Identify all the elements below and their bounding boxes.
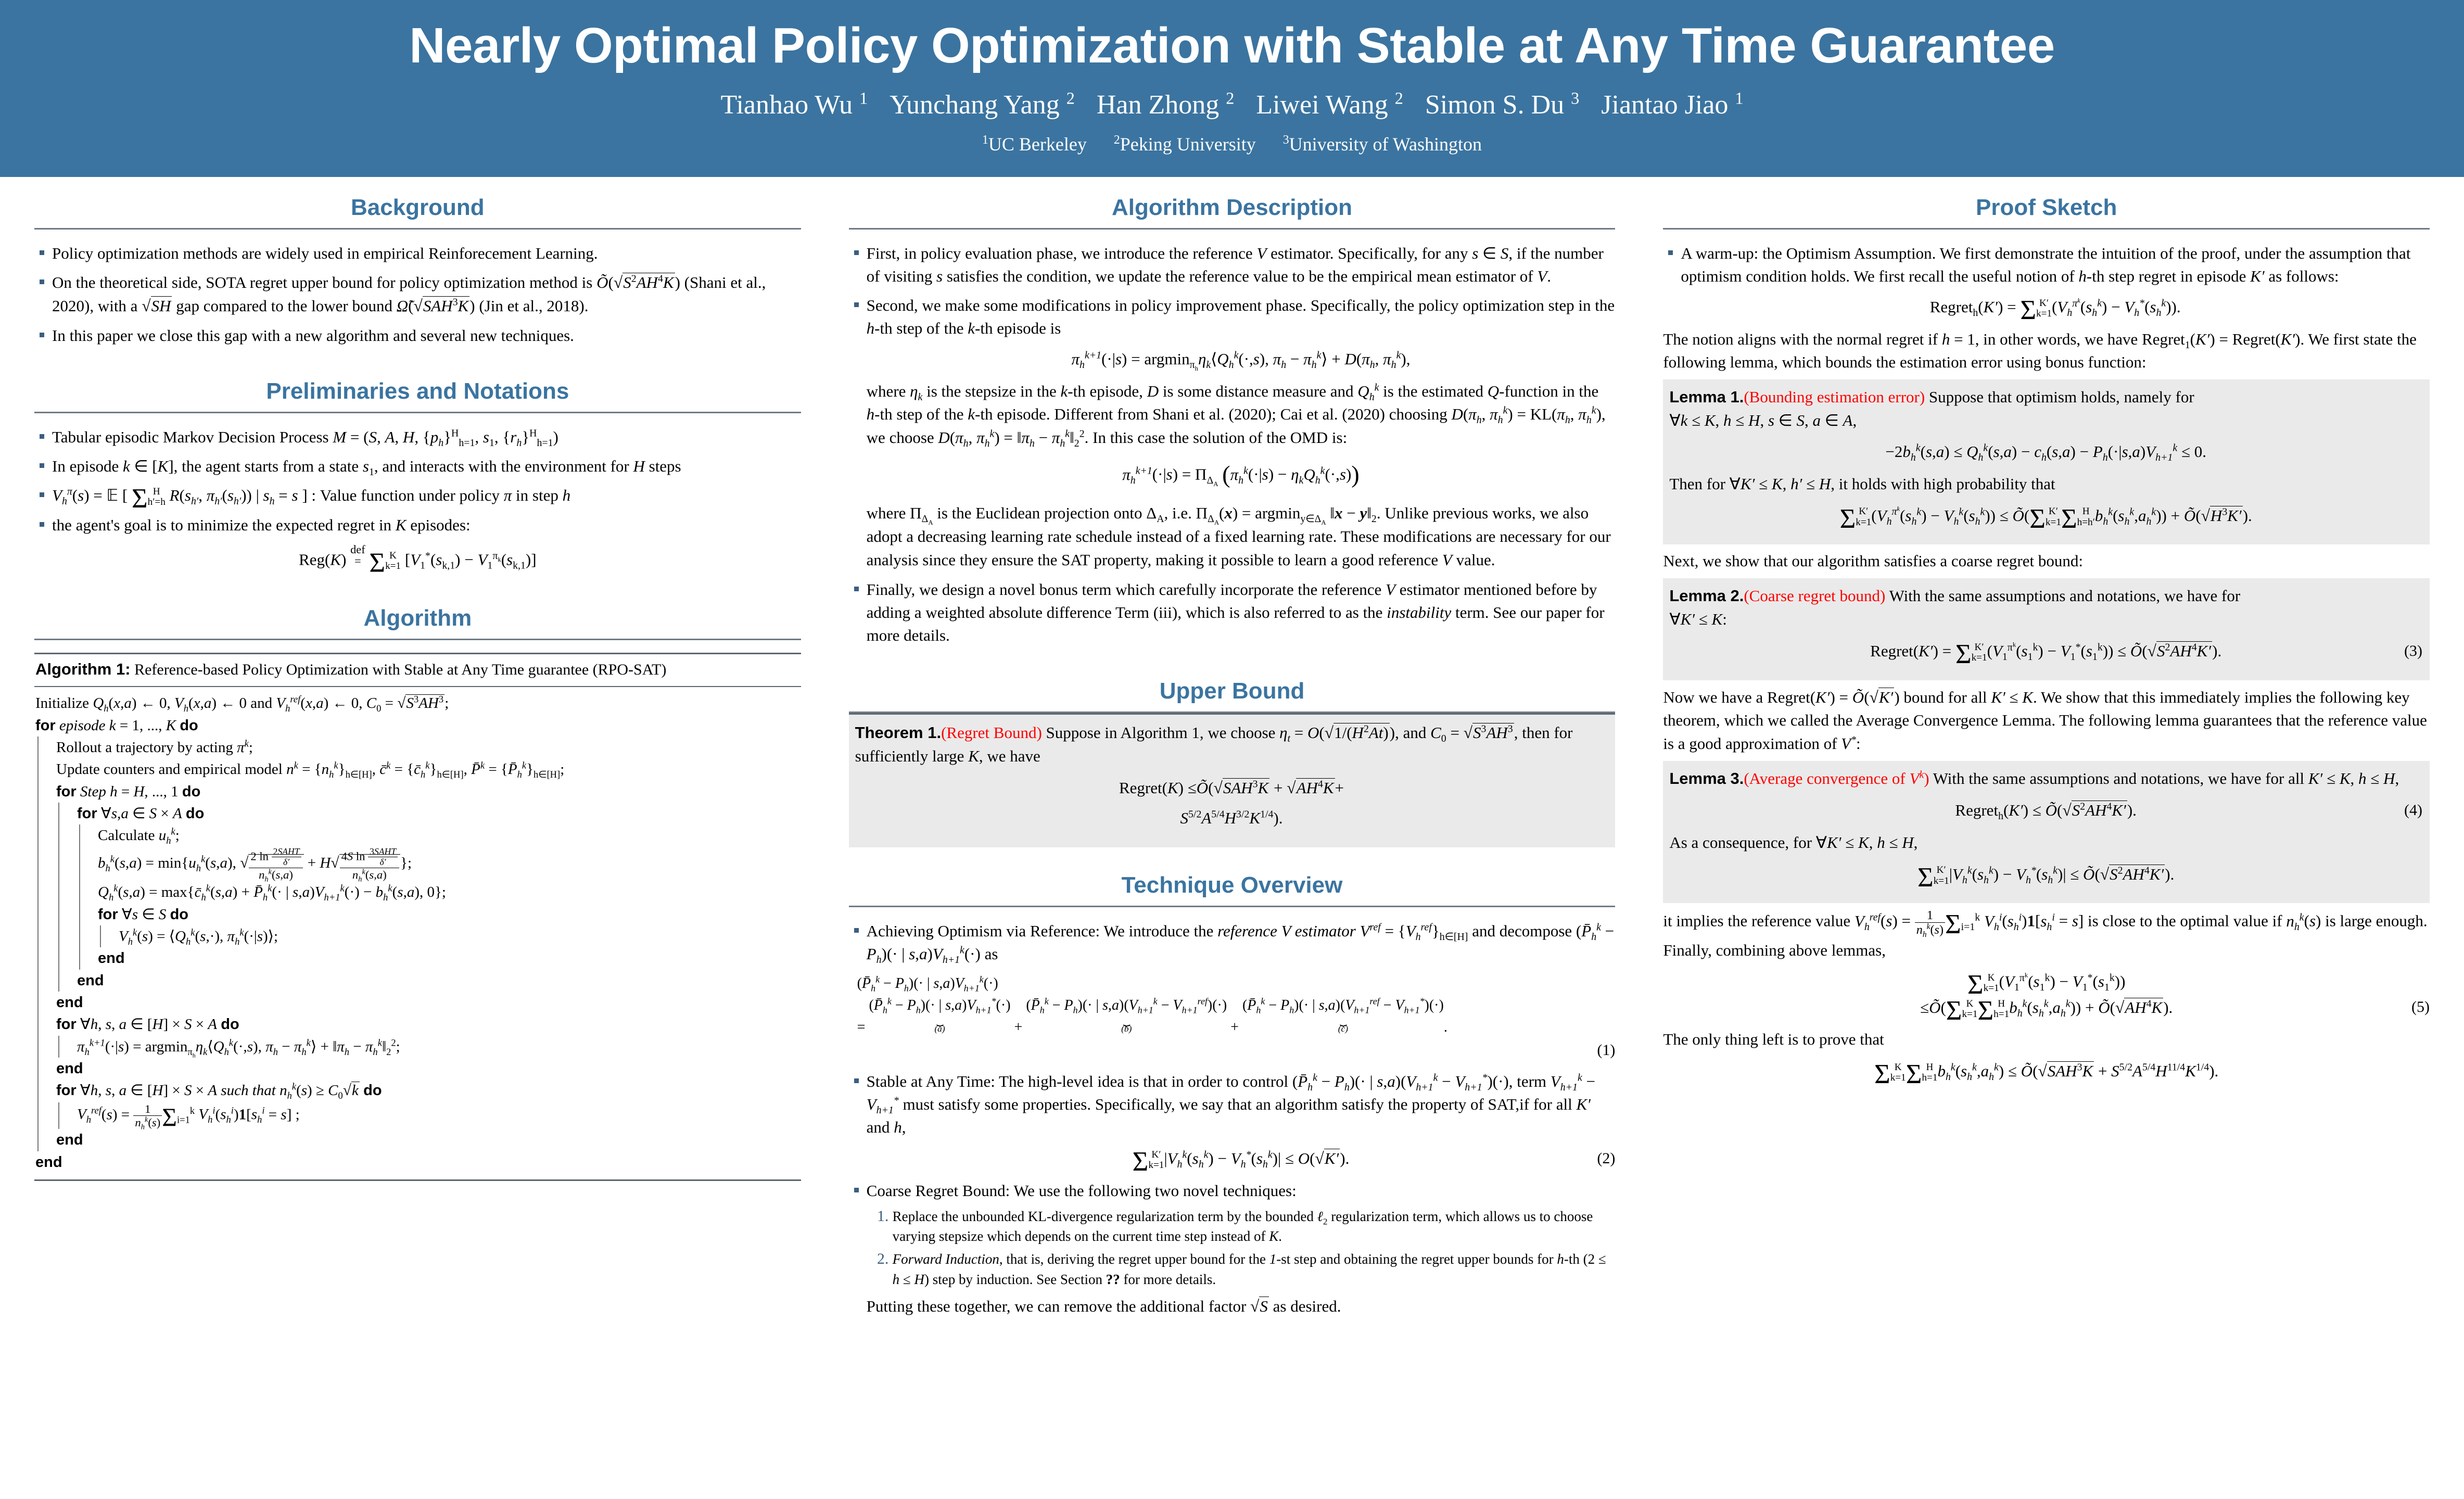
- section-divider: [849, 906, 1616, 907]
- lemma-3-equation-2: ΣK′k=1|Vhk(shk) − Vh*(shk)| ≤ Õ(√S2AH4K′…: [1669, 862, 2422, 887]
- lemma-2-equation: Regret(K′) = ΣK′k=1(V1πk(s1k) − V1*(s1k)…: [1669, 639, 2422, 664]
- section-title-upper-bound: Upper Bound: [849, 678, 1616, 704]
- affiliation-entry: 2Peking University: [1114, 133, 1256, 155]
- algorithm-label: Algorithm 1:: [35, 660, 131, 678]
- section-title-algorithm-description: Algorithm Description: [849, 195, 1616, 221]
- section-title-technique-overview: Technique Overview: [849, 872, 1616, 898]
- list-item: Finally, we design a novel bonus term wh…: [849, 578, 1616, 647]
- algo-line: end: [56, 1129, 800, 1151]
- proof-paragraph-2: Next, we show that our algorithm satisfi…: [1663, 550, 2430, 573]
- algo-line: end: [77, 970, 800, 992]
- column-middle: Algorithm Description First, in policy e…: [849, 195, 1616, 1325]
- proof-paragraph-4: it implies the reference value Vhref(s) …: [1663, 908, 2430, 937]
- list-item: In episode k ∈ [K], the agent starts fro…: [34, 455, 801, 478]
- equation-number-4: (4): [2404, 798, 2422, 822]
- algorithm-description-bullets: First, in policy evaluation phase, we in…: [849, 242, 1616, 647]
- algo-line: end: [56, 992, 800, 1013]
- list-item: Forward Induction, that is, deriving the…: [893, 1248, 1616, 1289]
- section-divider: [34, 228, 801, 230]
- final-equation-line-1: ΣKk=1(V1πk(s1k) − V1*(s1k)): [1663, 970, 2430, 994]
- final-equation-line-2: ≤Õ(ΣKk=1ΣHh=1bhk(shk,ahk)) + Õ(√AH4K).(5…: [1663, 995, 2430, 1020]
- algo-line: Initialize Qh(x,a) ← 0, Vh(x,a) ← 0 and …: [35, 692, 800, 715]
- algo-line: for ∀s ∈ S do: [98, 904, 800, 925]
- algo-line: Vhref(s) = 1nhk(s)Σi=1k Vhi(shi)1[shi = …: [77, 1102, 800, 1129]
- affiliation-entry: 3University of Washington: [1283, 133, 1482, 155]
- technique-overview-bullets: Achieving Optimism via Reference: We int…: [849, 920, 1616, 1318]
- lemma-3-tag: (Average convergence of Vk): [1744, 769, 1929, 787]
- bonus-sum-equation: ΣKk=1ΣHh=1bhk(shk,ahk) ≤ Õ(√SAH3K + S5/2…: [1663, 1059, 2430, 1084]
- list-item: Policy optimization methods are widely u…: [34, 242, 801, 265]
- algo-line: bhk(s,a) = min{uhk(s,a), √2 ln 2SAHTδ′nh…: [98, 847, 800, 882]
- section-title-preliminaries: Preliminaries and Notations: [34, 378, 801, 404]
- algo-line: Update counters and empirical model nk =…: [56, 758, 800, 780]
- section-divider: [849, 228, 1616, 230]
- brace-label-c: (c): [1242, 1022, 1444, 1036]
- theorem-tag: (Regret Bound): [941, 723, 1042, 742]
- algo-line: for ∀s,a ∈ S × A do: [77, 803, 800, 824]
- list-item: Achieving Optimism via Reference: We int…: [849, 920, 1616, 1062]
- algo-line: Vhk(s) = ⟨Qhk(s,·), πhk(·|s)⟩;: [119, 925, 800, 947]
- algo-line: for ∀h, s, a ∈ [H] × S × A such that nhk…: [56, 1079, 800, 1102]
- equation-number-3: (3): [2404, 639, 2422, 663]
- proof-paragraph-5: Finally, combining above lemmas,: [1663, 939, 2430, 962]
- list-item: Vhπ(s) = 𝔼 [ ΣHh′=h R(sh′, πh′(sh′)) | s…: [34, 484, 801, 507]
- affiliation-list: 1UC Berkeley2Peking University3Universit…: [0, 133, 2464, 155]
- algo-line: end: [56, 1058, 800, 1079]
- lemma-3-consequence: As a consequence, for ∀K′ ≤ K, h ≤ H,: [1669, 833, 1917, 852]
- algorithm-box: Algorithm 1: Reference-based Policy Opti…: [34, 653, 801, 1181]
- regret-definition-equation: Reg(K) def= ΣKk=1 [V1*(sk,1) − V1πk(sk,1…: [34, 544, 801, 572]
- algo-line: for ∀h, s, a ∈ [H] × S × A do: [56, 1013, 800, 1035]
- step-regret-equation: Regreth(K′) = ΣK′k=1(Vhπk(shk) − Vh*(shk…: [1681, 295, 2430, 320]
- algo-line: for episode k = 1, ..., K do: [35, 715, 800, 736]
- algo-line: Qhk(s,a) = max{c̄hk(s,a) + P̄hk(· | s,a)…: [98, 881, 800, 903]
- author-entry: Simon S. Du 3: [1425, 90, 1579, 120]
- list-item: the agent's goal is to minimize the expe…: [34, 514, 801, 537]
- section-title-proof-sketch: Proof Sketch: [1663, 195, 2430, 221]
- description-paragraph-2: where ΠΔA is the Euclidean projection on…: [867, 502, 1616, 572]
- theorem-label: Theorem 1.: [855, 723, 941, 742]
- omd-solution-equation: πhk+1(·|s) = ΠΔA (πhk(·|s) − ηkQhk(·,s)): [867, 457, 1616, 493]
- lemma-1-label: Lemma 1.: [1669, 388, 1744, 406]
- technique-numbered-list: Replace the unbounded KL-divergence regu…: [867, 1205, 1616, 1289]
- algorithm-pseudocode: Initialize Qh(x,a) ← 0, Vh(x,a) ← 0 and …: [34, 687, 801, 1179]
- equation-number-5: (5): [2411, 995, 2430, 1019]
- section-divider: [1663, 228, 2430, 230]
- algo-line: πhk+1(·|s) = argminπhηk⟨Qhk(·,s), πh − π…: [77, 1036, 800, 1058]
- poster-columns: Background Policy optimization methods a…: [0, 177, 2464, 1325]
- theorem-equation-line-1: Regret(K) ≤Õ(√SAH3K + √AH4K+: [855, 776, 1608, 801]
- proof-paragraph-6: The only thing left is to prove that: [1663, 1028, 2430, 1051]
- algo-line: Calculate uhk;: [98, 824, 800, 846]
- lemma-3-box: Lemma 3.(Average convergence of Vk) With…: [1663, 761, 2430, 903]
- author-list: Tianhao Wu 1Yunchang Yang 2Han Zhong 2Li…: [0, 90, 2464, 120]
- algo-line: Rollout a trajectory by acting πk;: [56, 736, 800, 758]
- list-item: Coarse Regret Bound: We use the followin…: [849, 1179, 1616, 1318]
- algo-line: end: [98, 947, 800, 969]
- section-title-background: Background: [34, 195, 801, 221]
- lemma-3-label: Lemma 3.: [1669, 769, 1744, 787]
- lemma-1-box: Lemma 1.(Bounding estimation error) Supp…: [1663, 379, 2430, 544]
- technique-closing: Putting these together, we can remove th…: [867, 1294, 1616, 1318]
- lemma-3-equation-1: Regreth(K′) ≤ Õ(√S2AH4K′).(4): [1669, 798, 2422, 823]
- section-divider: [34, 412, 801, 413]
- list-item: In this paper we close this gap with a n…: [34, 324, 801, 347]
- lemma-1-equation-2: ΣK′k=1(Vhπk(shk) − Vhk(shk)) ≤ Õ(ΣK′k=1Σ…: [1669, 503, 2422, 528]
- policy-optimization-equation: πhk+1(·|s) = argminπhηk⟨Qhk(·,s), πh − π…: [867, 347, 1616, 372]
- proof-paragraph-1: The notion aligns with the normal regret…: [1663, 328, 2430, 375]
- author-entry: Yunchang Yang 2: [890, 90, 1075, 120]
- list-item: Replace the unbounded KL-divergence regu…: [893, 1205, 1616, 1247]
- page-title: Nearly Optimal Policy Optimization with …: [0, 20, 2464, 72]
- equation-number-1: (1): [857, 1038, 1616, 1062]
- algo-line: for Step h = H, ..., 1 do: [56, 781, 800, 803]
- author-entry: Jiantao Jiao 1: [1601, 90, 1743, 120]
- list-item: A warm-up: the Optimism Assumption. We f…: [1663, 242, 2430, 320]
- proof-paragraph-3: Now we have a Regret(K′) = Õ(√K′) bound …: [1663, 685, 2430, 756]
- equation-number-2: (2): [1597, 1147, 1615, 1170]
- column-right: Proof Sketch A warm-up: the Optimism Ass…: [1663, 195, 2430, 1092]
- column-left: Background Policy optimization methods a…: [34, 195, 801, 1181]
- author-entry: Han Zhong 2: [1097, 90, 1235, 120]
- list-item: First, in policy evaluation phase, we in…: [849, 242, 1616, 288]
- author-entry: Liwei Wang 2: [1256, 90, 1403, 120]
- preliminaries-bullets: Tabular episodic Markov Decision Process…: [34, 426, 801, 537]
- background-bullets: Policy optimization methods are widely u…: [34, 242, 801, 347]
- decomposition-equation: (P̄hk − Ph)(· | s,a)Vh+1k(·) = (P̄hk − P…: [857, 973, 1616, 1062]
- author-entry: Tianhao Wu 1: [721, 90, 868, 120]
- algo-line: end: [35, 1151, 800, 1173]
- algorithm-caption: Algorithm 1: Reference-based Policy Opti…: [34, 654, 801, 687]
- proof-sketch-bullets: A warm-up: the Optimism Assumption. We f…: [1663, 242, 2430, 320]
- theorem-equation-line-2: S5/2A5/4H3/2K1/4).: [855, 806, 1608, 831]
- description-paragraph-1: where ηk is the stepsize in the k-th epi…: [867, 380, 1616, 450]
- affiliation-entry: 1UC Berkeley: [982, 133, 1087, 155]
- poster-header-banner: Nearly Optimal Policy Optimization with …: [0, 0, 2464, 177]
- lemma-1-equation-1: −2bhk(s,a) ≤ Qhk(s,a) − ch(s,a) − Ph(·|s…: [1669, 440, 2422, 464]
- brace-label-b: (b): [1026, 1022, 1227, 1036]
- brace-label-a: (a): [869, 1022, 1010, 1036]
- section-title-algorithm: Algorithm: [34, 605, 801, 631]
- list-item: Tabular episodic Markov Decision Process…: [34, 426, 801, 449]
- list-item: Second, we make some modifications in po…: [849, 294, 1616, 572]
- list-item: On the theoretical side, SOTA regret upp…: [34, 271, 801, 318]
- list-item: Stable at Any Time: The high-level idea …: [849, 1070, 1616, 1171]
- section-divider: [34, 639, 801, 640]
- lemma-1-tag: (Bounding estimation error): [1744, 388, 1925, 406]
- lemma-2-box: Lemma 2.(Coarse regret bound) With the s…: [1663, 578, 2430, 680]
- theorem-box: Theorem 1.(Regret Bound) Suppose in Algo…: [849, 713, 1616, 847]
- sat-equation: ΣK′k=1|Vhk(shk) − Vh*(shk)| ≤ O(√K′).(2): [867, 1146, 1616, 1171]
- lemma-2-tag: (Coarse regret bound): [1744, 587, 1885, 605]
- lemma-2-label: Lemma 2.: [1669, 587, 1744, 605]
- algorithm-caption-text: Reference-based Policy Optimization with…: [134, 661, 666, 678]
